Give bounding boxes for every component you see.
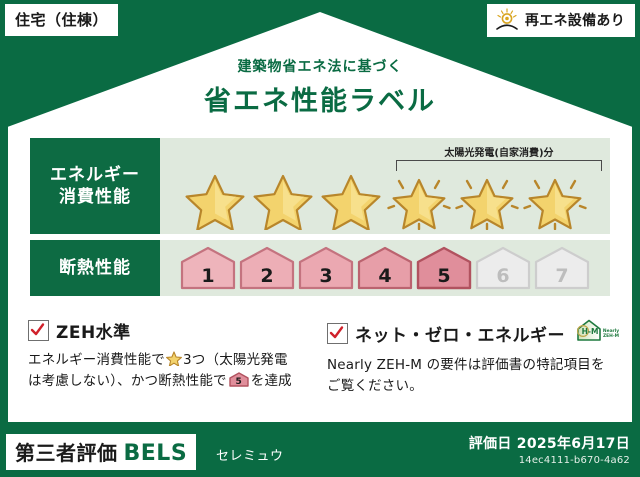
label-footer: 第三者評価 BELS セレミュウ 評価日 2025年6月17日 14ec4111… bbox=[0, 427, 640, 477]
star-icon-solar bbox=[522, 166, 588, 230]
star-icon bbox=[250, 166, 316, 230]
metrics-section: エネルギー 消費性能 太陽光発電(自家消費)分 bbox=[30, 138, 610, 302]
insulation-performance-row: 断熱性能 1 2 3 bbox=[30, 240, 610, 296]
vendor-name: セレミュウ bbox=[216, 445, 284, 464]
checkbox-zeh[interactable] bbox=[28, 320, 49, 341]
energy-performance-label: 住宅（住棟） 再エネ設備あり 建築物省エネ法に基づく 省エネ性能ラベル bbox=[0, 0, 640, 477]
zeh-m-inner-text: H-M bbox=[582, 327, 599, 336]
bels-badge: 第三者評価 BELS bbox=[6, 434, 196, 470]
zeh-desc-part2: は考慮しない）、かつ断熱性能で bbox=[28, 373, 227, 389]
grade-house-icon-inline: 5 bbox=[229, 372, 249, 387]
star-icon bbox=[318, 166, 384, 230]
insulation-grades-area: 1 2 3 4 5 bbox=[160, 240, 610, 296]
label-title: 建築物省エネ法に基づく 省エネ性能ラベル bbox=[0, 56, 640, 118]
title-main: 省エネ性能ラベル bbox=[0, 79, 640, 118]
check-icon bbox=[329, 325, 344, 340]
grade-house-5: 5 bbox=[416, 246, 472, 290]
grade-value: 3 bbox=[298, 267, 354, 286]
evaluation-date: 評価日 2025年6月17日 bbox=[469, 433, 630, 453]
energy-performance-row: エネルギー 消費性能 太陽光発電(自家消費)分 bbox=[30, 138, 610, 234]
sun-icon bbox=[494, 8, 520, 32]
criterion-zeh-title: ZEH水準 bbox=[56, 318, 131, 343]
star-icon-inline bbox=[166, 351, 182, 366]
star-icon-solar bbox=[386, 166, 452, 230]
star-rating bbox=[182, 166, 588, 234]
criterion-net-zero-title: ネット・ゼロ・エネルギー bbox=[355, 321, 565, 346]
criteria-section: ZEH水準 エネルギー消費性能で3つ（太陽光発電 は考慮しない）、かつ断熱性能で… bbox=[28, 318, 612, 397]
criterion-net-zero-header: ネット・ゼロ・エネルギー H-M Nearly ZEH-M bbox=[327, 318, 612, 348]
insulation-label: 断熱性能 bbox=[59, 257, 131, 279]
grade-value: 2 bbox=[239, 267, 295, 286]
title-subtitle: 建築物省エネ法に基づく bbox=[0, 56, 640, 76]
energy-performance-label-cell: エネルギー 消費性能 bbox=[30, 138, 160, 234]
criterion-net-zero-description: Nearly ZEH-M の要件は評価書の特記項目をご覧ください。 bbox=[327, 355, 612, 397]
criterion-zeh: ZEH水準 エネルギー消費性能で3つ（太陽光発電 は考慮しない）、かつ断熱性能で… bbox=[28, 318, 313, 397]
insulation-grade-scale: 1 2 3 4 5 bbox=[180, 246, 590, 290]
grade-value: 7 bbox=[534, 267, 590, 286]
grade-value: 5 bbox=[416, 267, 472, 286]
solar-bracket-label: 太陽光発電(自家消費)分 bbox=[396, 144, 602, 159]
grade-value: 1 bbox=[180, 267, 236, 286]
grade-house-6: 6 bbox=[475, 246, 531, 290]
check-icon bbox=[30, 322, 45, 337]
grade-value: 6 bbox=[475, 267, 531, 286]
zeh-m-caption-2: ZEH-M bbox=[603, 333, 619, 339]
grade-value-inline: 5 bbox=[229, 378, 249, 387]
building-type-tag: 住宅（住棟） bbox=[5, 4, 118, 36]
grade-house-7: 7 bbox=[534, 246, 590, 290]
evaluation-id: 14ec4111-b670-4a62 bbox=[469, 455, 630, 466]
energy-stars-area: 太陽光発電(自家消費)分 bbox=[160, 138, 610, 234]
criterion-zeh-description: エネルギー消費性能で3つ（太陽光発電 は考慮しない）、かつ断熱性能で5を達成 bbox=[28, 350, 313, 392]
energy-label-line2: 消費性能 bbox=[59, 186, 131, 208]
evaluation-info: 評価日 2025年6月17日 14ec4111-b670-4a62 bbox=[469, 433, 630, 466]
grade-value: 4 bbox=[357, 267, 413, 286]
zeh-desc-part1: エネルギー消費性能で bbox=[28, 352, 165, 368]
insulation-performance-label-cell: 断熱性能 bbox=[30, 240, 160, 296]
bels-jp-label: 第三者評価 bbox=[15, 437, 118, 466]
zeh-m-logo: H-M Nearly ZEH-M bbox=[572, 318, 620, 348]
zeh-desc-part3: を達成 bbox=[251, 373, 292, 389]
checkbox-net-zero[interactable] bbox=[327, 323, 348, 344]
grade-house-4: 4 bbox=[357, 246, 413, 290]
grade-house-2: 2 bbox=[239, 246, 295, 290]
grade-house-3: 3 bbox=[298, 246, 354, 290]
bels-en-label: BELS bbox=[124, 441, 188, 466]
energy-label-line1: エネルギー bbox=[50, 164, 140, 186]
zeh-desc-star-count: 3つ（太陽光発電 bbox=[183, 352, 288, 368]
criterion-zeh-header: ZEH水準 bbox=[28, 318, 313, 343]
grade-house-1: 1 bbox=[180, 246, 236, 290]
star-icon-solar bbox=[454, 166, 520, 230]
criterion-net-zero: ネット・ゼロ・エネルギー H-M Nearly ZEH-M bbox=[327, 318, 612, 397]
renewable-badge-label: 再エネ設備あり bbox=[525, 10, 625, 30]
star-icon bbox=[182, 166, 248, 230]
renewable-energy-badge: 再エネ設備あり bbox=[487, 4, 635, 37]
